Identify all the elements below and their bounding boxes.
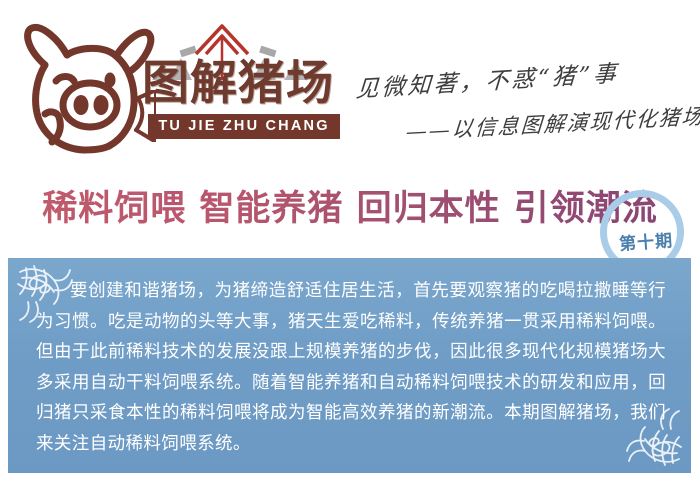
brand-pinyin-bar: TU JIE ZHU CHANG [148, 114, 340, 139]
poster-page: 图解猪场 TU JIE ZHU CHANG 见微知著，不惑“猪”事 ——以信息图… [0, 0, 700, 482]
brand-name-chinese: 图解猪场 [142, 58, 334, 110]
calligraphy-slogan: 见微知著，不惑“猪”事 ——以信息图解演现代化猪场。 [350, 68, 690, 168]
headline-text: 稀料饲喂 智能养猪 回归本性 引领潮流 [42, 186, 658, 232]
headline: 稀料饲喂 智能养猪 回归本性 引领潮流 [0, 186, 700, 234]
header-area: 图解猪场 TU JIE ZHU CHANG 见微知著，不惑“猪”事 ——以信息图… [0, 0, 700, 180]
issue-badge-label: 第十期 [609, 226, 683, 256]
calligraphy-line-1: 见微知著，不惑“猪”事 [355, 54, 620, 104]
intro-panel: 要创建和谐猪场，为猪缔造舒适住居生活，首先要观察猪的吃喝拉撒睡等行为习惯。吃是动… [8, 258, 691, 473]
floral-flourish-icon [625, 407, 685, 469]
brand-logo[interactable]: 图解猪场 TU JIE ZHU CHANG [12, 14, 342, 154]
calligraphy-line-2: ——以信息图解演现代化猪场。 [405, 99, 700, 146]
issue-badge: 第十期 [600, 190, 692, 266]
intro-paragraph: 要创建和谐猪场，为猪缔造舒适住居生活，首先要观察猪的吃喝拉撒睡等行为习惯。吃是动… [36, 276, 666, 459]
